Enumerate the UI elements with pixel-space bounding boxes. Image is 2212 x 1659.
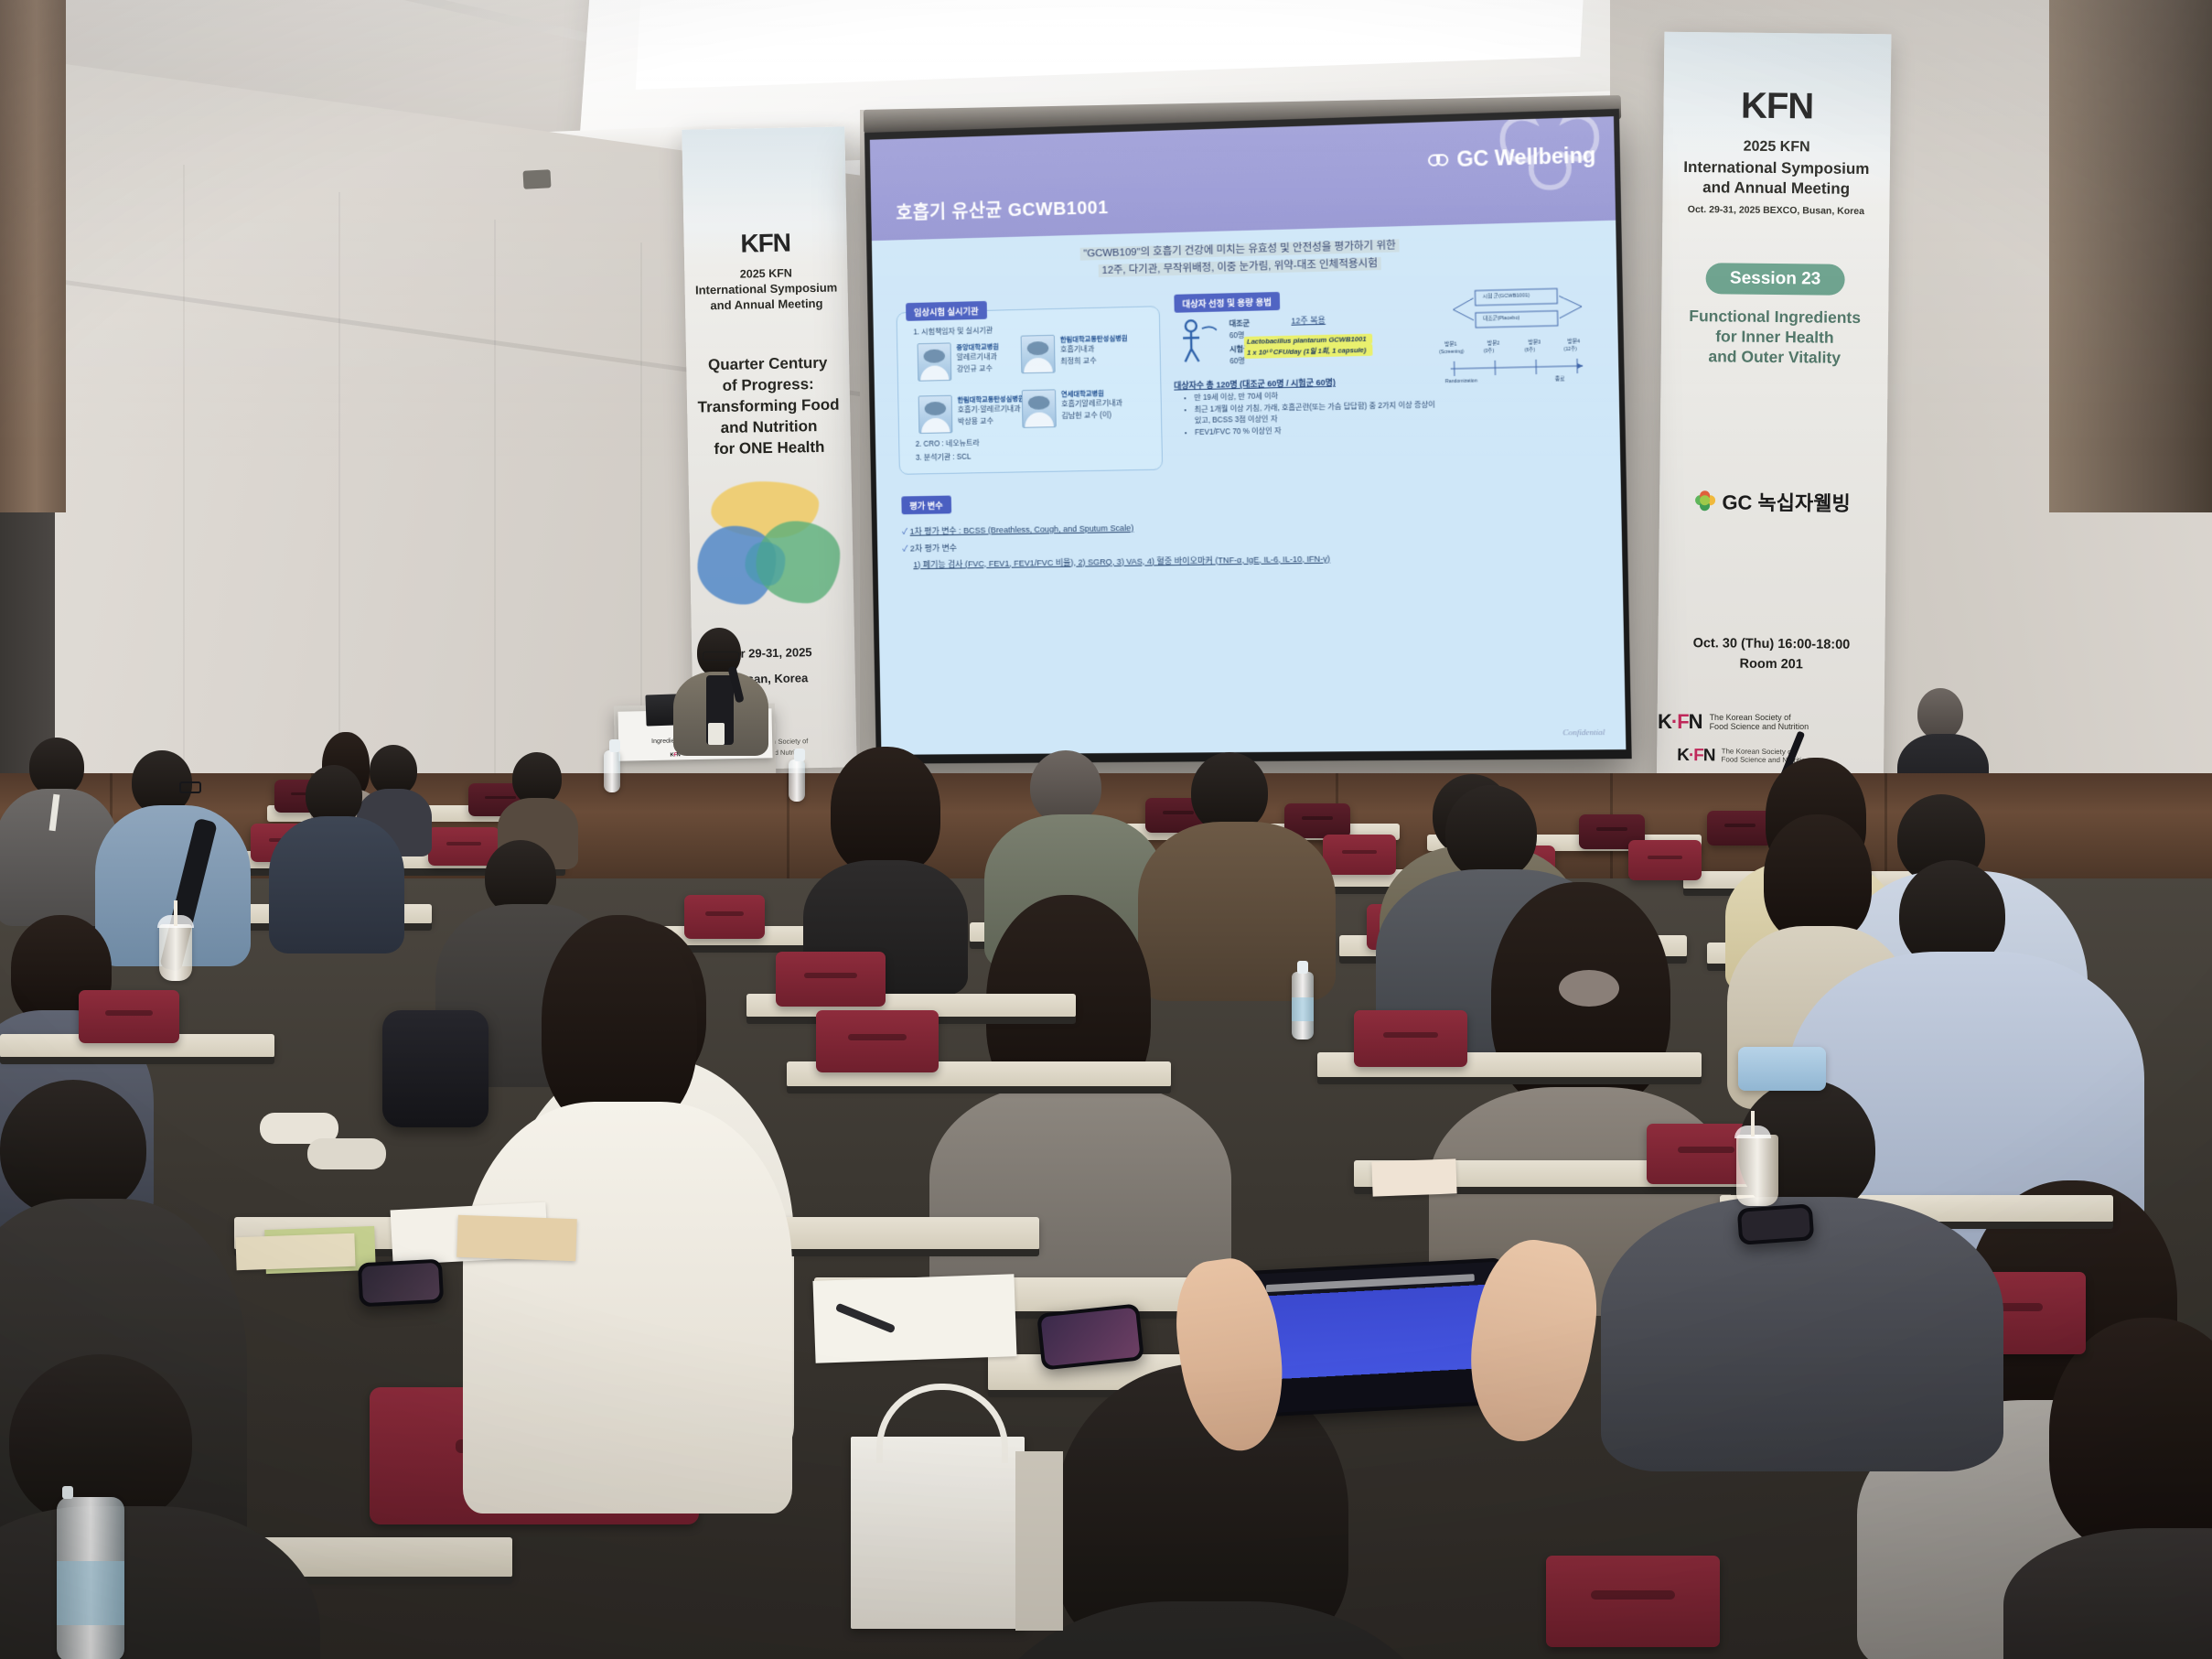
hair-clip-icon	[1559, 970, 1619, 1007]
speaker-glasses-icon	[703, 652, 739, 661]
investigator-3-dept: 호흡기알레르기내과	[1061, 398, 1122, 411]
slide-title: 호흡기 유산균 GCWB1001	[896, 192, 1109, 224]
dose-box: Lactobacillus plantarum GCWB1001 1 x 10¹…	[1244, 334, 1373, 359]
slide-watermark: Confidential	[1562, 727, 1605, 737]
conference-room-photo: KFN 2025 KFN International Symposium and…	[0, 0, 2212, 1659]
check-icon: ✓	[902, 544, 907, 554]
attendee-body	[269, 816, 404, 953]
slide-header-bar: 호흡기 유산균 GCWB1001 GC Wellbeing	[870, 116, 1616, 241]
design-followup: 종료	[1555, 375, 1565, 383]
banner-left-year: 2025 KFN	[684, 265, 847, 281]
drink-cup	[1736, 1135, 1778, 1206]
banner-left-theme-2: Transforming Food	[687, 394, 850, 419]
banner-left-line3: and Annual Meeting	[685, 296, 848, 312]
desk-phone-screen	[1040, 1308, 1140, 1367]
slide-panel-endpoints: 평가 변수 ✓ 1차 평가 변수 : BCSS (Breathless, Cou…	[901, 485, 1577, 571]
investigator-0: 중앙대학교병원 알레르기내과 강인규 교수	[918, 341, 1000, 382]
attendee-glasses-icon	[179, 781, 201, 793]
kfn-logo-left-text: KFN	[740, 229, 790, 258]
gc-wellbeing-logo: GC Wellbeing	[1427, 143, 1596, 173]
ceiling-projector	[522, 169, 551, 189]
design-box-2: 대조군(Placebo)	[1483, 315, 1519, 324]
panel-endpoints-tag: 평가 변수	[901, 496, 950, 515]
investigator-3: 연세대학교병원 호흡기알레르기내과 김남헌 교수 (이)	[1022, 388, 1123, 428]
desk-booklet	[235, 1233, 355, 1271]
investigator-photo-icon	[1022, 389, 1057, 427]
banner-left-date: er 29-31, 2025	[734, 645, 812, 661]
one-health-illustration	[689, 476, 854, 643]
investigator-0-dept: 알레르기내과	[957, 351, 1000, 364]
chair	[684, 895, 765, 939]
bottle-label	[1292, 997, 1314, 1021]
banner-right-line2: International Symposium	[1663, 158, 1890, 179]
slide-panel-institutions: 임상시험 실시기관 1. 시험책임자 및 실시기관 중앙대학교병원 알레르기내과…	[897, 306, 1164, 475]
attendee-body	[463, 1102, 792, 1514]
chair	[1707, 811, 1773, 846]
sponsor-logo-gc: GC 녹십자웰빙	[1659, 486, 1886, 518]
wall-right-wood-panel	[2049, 0, 2212, 512]
banner-left-theme-1: of Progress:	[686, 372, 849, 397]
wall-sign-kfn: K·FN The Korean Society of Food Science …	[1658, 710, 1809, 734]
investigator-2-name: 박상용 교수	[958, 415, 1025, 428]
desk-notepad	[812, 1274, 1016, 1363]
gc-flower-icon	[1695, 490, 1715, 511]
gc-wellbeing-text: GC Wellbeing	[1456, 143, 1595, 172]
banner-right: KFN 2025 KFN International Symposium and…	[1657, 32, 1892, 811]
projection-screen: 호흡기 유산균 GCWB1001 GC Wellbeing "GCWB109"의…	[864, 109, 1632, 764]
investigator-photo-icon	[918, 395, 953, 434]
group-control-label: 대조군	[1229, 318, 1250, 330]
investigator-0-name: 강인규 교수	[957, 363, 1000, 376]
panel-institutions-item1: 1. 시험책임자 및 실시기관	[913, 326, 993, 339]
design-visit-3-sub: (6주)	[1525, 347, 1535, 354]
panel-institutions-tag: 임상시험 실시기관	[906, 301, 987, 321]
moderator-head	[1917, 688, 1963, 739]
water-bottle	[1292, 972, 1314, 1040]
criteria-list: 만 19세 이상, 만 70세 이하 최근 1개월 이상 기침, 가래, 호흡곤…	[1181, 387, 1439, 439]
study-design-diagram	[1442, 280, 1613, 432]
desk-card	[1371, 1158, 1456, 1196]
backpack	[382, 1010, 489, 1127]
dose-line-2: 1 x 10¹⁰ CFU/day (1일 1회, 1 capsule)	[1244, 344, 1373, 359]
banner-right-line3: and Annual Meeting	[1663, 178, 1890, 199]
banner-left-theme-3: and Nutrition	[687, 415, 850, 440]
water-bottle	[57, 1497, 124, 1659]
panel-subjects-tag: 대상자 선정 및 용량 용법	[1174, 292, 1280, 313]
phone-screen-titlebar	[1265, 1274, 1475, 1292]
chair	[816, 1010, 939, 1072]
check-icon: ✓	[902, 527, 907, 536]
bag-side	[1015, 1451, 1063, 1631]
attendee-head	[0, 1080, 146, 1217]
design-randomization: Randomization	[1445, 377, 1477, 385]
sponsor-logo-text: GC 녹십자웰빙	[1722, 486, 1851, 516]
desk-handout	[456, 1215, 577, 1262]
desk-phone-3-screen	[1741, 1207, 1810, 1241]
endpoint-primary: 1차 평가 변수 : BCSS (Breathless, Cough, and …	[910, 523, 1134, 536]
investigator-1-name: 최정희 교수	[1060, 355, 1128, 368]
wall-sign-logo: K·FN	[1658, 710, 1702, 734]
attendee-head	[1030, 750, 1101, 824]
session-pill: Session 23	[1705, 263, 1844, 296]
session-title-0: Functional Ingredients	[1661, 307, 1888, 329]
investigator-2: 한림대학교동탄성심병원 호흡기·알레르기내과 박상용 교수	[918, 393, 1025, 434]
shoe	[307, 1138, 386, 1169]
session-title-2: and Outer Vitality	[1661, 346, 1888, 368]
attendee-head	[1445, 785, 1537, 880]
banner-left-theme-4: for ONE Health	[688, 436, 851, 461]
wall-sign-line-1: The Korean Society of	[1710, 713, 1809, 722]
investigator-1: 한림대학교동탄성심병원 호흡기내과 최정희 교수	[1021, 333, 1129, 373]
schedule-time: Oct. 30 (Thu) 16:00-18:00	[1658, 636, 1884, 653]
wall-sign-line-2: Food Science and Nutrition	[1710, 722, 1809, 731]
attendee-head	[29, 738, 84, 796]
banner-left-theme: Quarter Century of Progress: Transformin…	[686, 351, 851, 460]
investigator-2-dept: 호흡기·알레르기내과	[958, 404, 1025, 416]
chair	[776, 952, 886, 1007]
chair	[79, 990, 179, 1043]
drink-cup	[159, 924, 192, 981]
desk-phone	[1036, 1303, 1144, 1370]
banner-right-year: 2025 KFN	[1663, 138, 1890, 157]
kfn-logo-right-text: KFN	[1741, 86, 1814, 127]
kfn-logo-right: KFN	[1663, 85, 1890, 129]
water-bottle	[789, 759, 805, 802]
attendee-head	[1191, 752, 1268, 833]
session-title-1: for Inner Health	[1661, 327, 1888, 349]
panel-institutions-item2: 2. CRO : 네오뉴트라	[916, 438, 980, 451]
banner-right-date-venue: Oct. 29-31, 2025 BEXCO, Busan, Korea	[1662, 204, 1889, 218]
session-pill-label: Session 23	[1730, 268, 1820, 288]
speaker-badge	[708, 723, 725, 745]
chair	[1323, 835, 1396, 875]
chair	[1628, 840, 1702, 880]
bottle-label	[57, 1561, 124, 1625]
cup-straw	[174, 900, 177, 926]
investigator-1-hospital: 한림대학교동탄성심병원	[1060, 333, 1128, 345]
water-bottle	[604, 750, 620, 792]
chair	[1354, 1010, 1467, 1067]
schedule-room: Room 201	[1658, 656, 1884, 673]
session-title: Functional Ingredients for Inner Health …	[1661, 307, 1889, 369]
kfn-society-logo: K·FN	[1677, 746, 1715, 766]
investigator-photo-icon	[918, 342, 952, 381]
pouch-blue	[1738, 1047, 1826, 1091]
desk-phone-2-screen	[361, 1263, 440, 1303]
design-visit-4-sub: (12주)	[1563, 346, 1576, 353]
slide-panel-subjects: 대상자 선정 및 용량 용법 대조군 60명 시험군 60명 12주 복용 La…	[1171, 299, 1440, 469]
presentation-slide: 호흡기 유산균 GCWB1001 GC Wellbeing "GCWB109"의…	[870, 116, 1627, 755]
gc-wellbeing-mark-icon	[1427, 149, 1450, 172]
design-box-1: 시험 군(GCWB1001)	[1483, 292, 1530, 301]
desk-phone-2	[358, 1259, 444, 1308]
chair	[1546, 1556, 1720, 1647]
investigator-3-name: 김남헌 교수 (이)	[1061, 409, 1122, 422]
panel-institutions-item3: 3. 분석기관 : SCL	[916, 452, 972, 465]
banner-left-theme-0: Quarter Century	[686, 351, 849, 376]
cup-straw	[1751, 1111, 1755, 1137]
design-visit-1-sub: (Screening)	[1439, 348, 1464, 356]
attendee-hair	[542, 915, 697, 1131]
slide-panel-design: 시험 군(GCWB1001) 대조군(Placebo) 방문1 (Screeni…	[1442, 280, 1613, 432]
design-visit-2-sub: (0주)	[1484, 348, 1494, 355]
slide-subtitle: "GCWB109"의 호흡기 건강에 미치는 유효성 및 안전성을 평가하기 위…	[872, 232, 1616, 285]
paper-shopping-bag	[851, 1437, 1025, 1629]
banner-left-line2: International Symposium	[685, 280, 848, 296]
desk-phone-3	[1737, 1203, 1815, 1245]
subject-person-icon	[1176, 317, 1229, 365]
investigator-photo-icon	[1021, 335, 1056, 374]
endpoint-secondary-label: 2차 평가 변수	[910, 544, 957, 554]
dose-duration: 12주 복용	[1291, 315, 1326, 329]
wall-pillar-left	[0, 0, 66, 512]
wall-sign-text: The Korean Society of Food Science and N…	[1710, 713, 1809, 731]
kfn-logo-left: KFN	[683, 227, 847, 259]
attendee-hair	[1764, 814, 1872, 943]
attendee-hair	[831, 747, 940, 875]
